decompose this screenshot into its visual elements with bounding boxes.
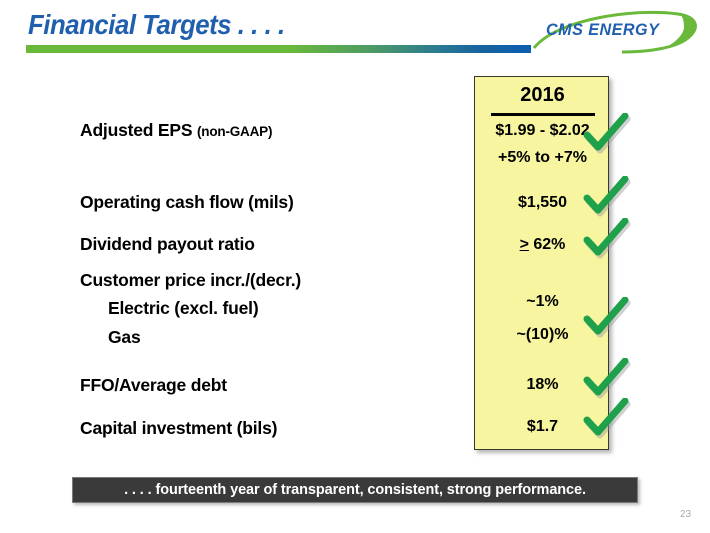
row-label-operating-cash-flow: Operating cash flow (mils) bbox=[80, 192, 294, 213]
row-label-gas: Gas bbox=[108, 327, 140, 348]
check-icon-adjusted-eps bbox=[583, 113, 631, 155]
check-icon-capital-investment bbox=[583, 398, 631, 440]
page-title: Financial Targets . . . . bbox=[28, 11, 285, 39]
check-icon-ffo-average-debt bbox=[583, 358, 631, 400]
row-label-capital-investment: Capital investment (bils) bbox=[80, 418, 277, 439]
footer-banner: . . . . fourteenth year of transparent, … bbox=[72, 477, 638, 503]
logo-wordmark: CMS ENERGY bbox=[546, 20, 659, 40]
row-label-ffo-average-debt: FFO/Average debt bbox=[80, 375, 227, 396]
greater-equal-glyph: > bbox=[520, 236, 529, 253]
title-gradient-rule bbox=[26, 45, 531, 53]
row-label-subtext: (non-GAAP) bbox=[197, 124, 272, 139]
column-header-2016: 2016 bbox=[475, 84, 610, 107]
column-header-rule bbox=[491, 113, 595, 116]
row-label-customer-price: Customer price incr./(decr.) bbox=[80, 270, 301, 291]
row-label-dividend-payout-ratio: Dividend payout ratio bbox=[80, 234, 255, 255]
check-icon-operating-cash-flow bbox=[583, 176, 631, 218]
page-number: 23 bbox=[680, 509, 691, 520]
cms-energy-logo: CMS ENERGY bbox=[518, 8, 700, 54]
check-icon-customer-price bbox=[583, 297, 631, 339]
row-label-text: Adjusted EPS bbox=[80, 120, 197, 140]
row-label-electric: Electric (excl. fuel) bbox=[108, 298, 258, 319]
row-label-adjusted-eps: Adjusted EPS (non-GAAP) bbox=[80, 120, 272, 141]
footer-text: . . . . fourteenth year of transparent, … bbox=[124, 482, 586, 498]
check-icon-dividend-payout-ratio bbox=[583, 218, 631, 260]
